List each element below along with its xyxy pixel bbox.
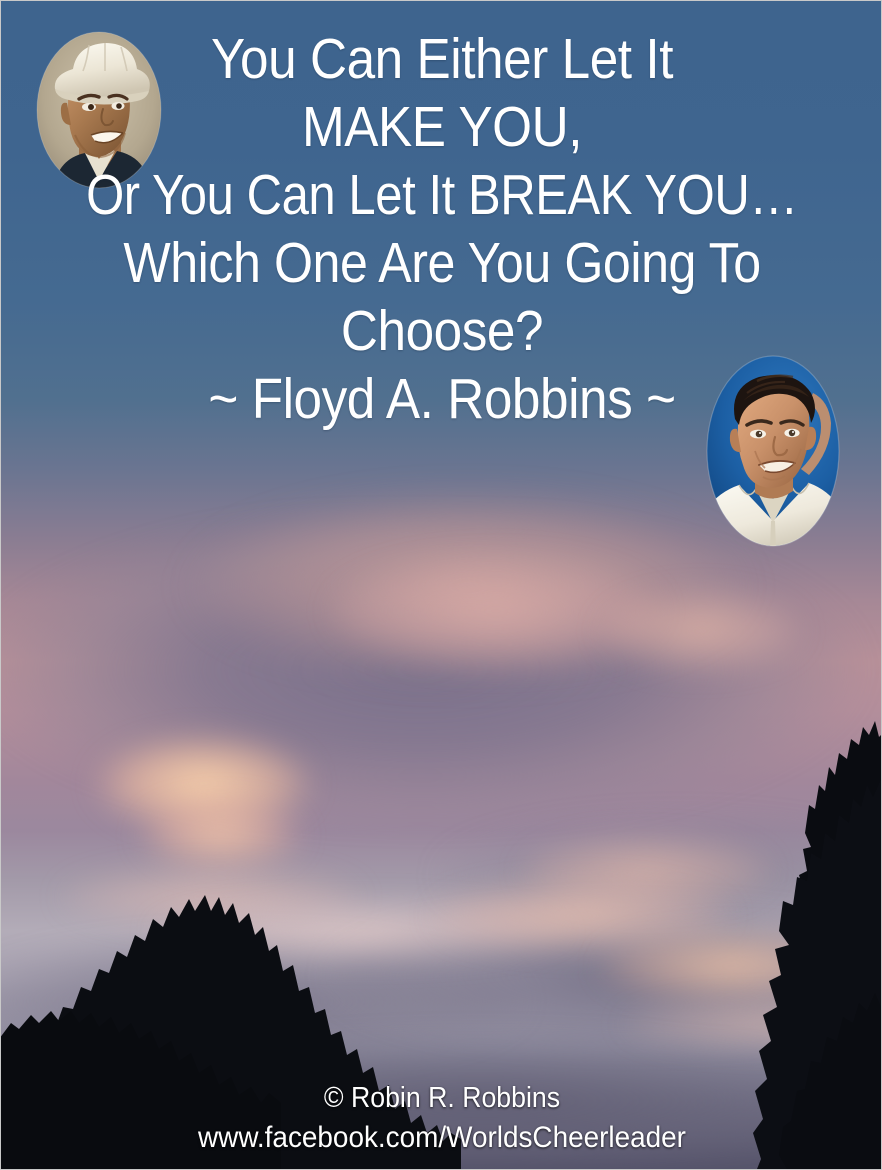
floyd-robbins-portrait: [697, 353, 849, 549]
vintage-sailor-portrait: [33, 29, 165, 191]
copyright-notice: © Robin R. Robbins: [36, 1081, 847, 1115]
facebook-url[interactable]: www.facebook.com/WorldsCheerleader: [32, 1120, 852, 1155]
credit-block: © Robin R. Robbins www.facebook.com/Worl…: [1, 1081, 882, 1155]
quote-poster: You Can Either Let It MAKE YOU, Or You C…: [0, 0, 882, 1170]
